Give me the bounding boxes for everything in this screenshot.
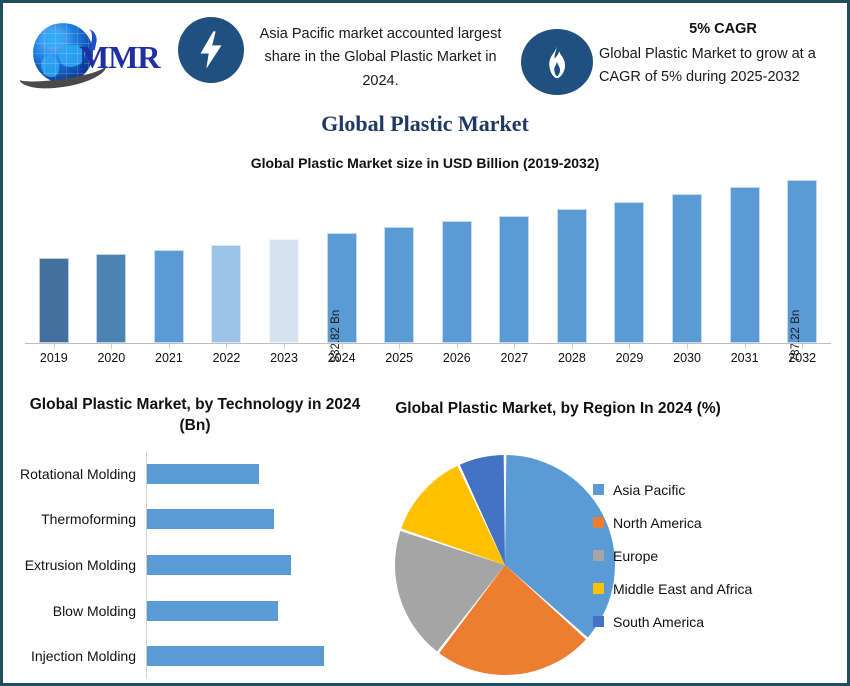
brand-name: MMR bbox=[79, 39, 160, 76]
x-axis-tick-label: 2019 bbox=[40, 351, 68, 365]
technology-bar bbox=[147, 601, 278, 621]
technology-plot-area: Rotational MoldingThermoformingExtrusion… bbox=[9, 451, 379, 679]
bar-2027 bbox=[499, 216, 529, 343]
legend-item: North America bbox=[593, 506, 843, 539]
technology-label: Extrusion Molding bbox=[9, 557, 142, 573]
bar-chart-x-axis bbox=[25, 343, 831, 344]
technology-row: Blow Molding bbox=[9, 588, 379, 634]
legend-swatch bbox=[593, 616, 604, 627]
bar-2020 bbox=[96, 254, 126, 343]
bar-2031 bbox=[730, 187, 760, 343]
header-highlight-text: Asia Pacific market accounted largest sh… bbox=[253, 23, 508, 93]
pie-legend: Asia PacificNorth AmericaEuropeMiddle Ea… bbox=[593, 473, 843, 638]
bar-2030 bbox=[672, 194, 702, 343]
technology-bar bbox=[147, 646, 324, 666]
x-axis-tick-label: 2026 bbox=[443, 351, 471, 365]
bar-column: 2027 bbox=[486, 171, 544, 343]
region-pie-chart: Global Plastic Market, by Region In 2024… bbox=[393, 399, 845, 685]
x-axis-tick-label: 2024 bbox=[328, 351, 356, 365]
technology-bar-chart: Global Plastic Market, by Technology in … bbox=[9, 395, 379, 683]
x-axis-tick-label: 2027 bbox=[500, 351, 528, 365]
infographic-page: MMR Asia Pacific market accounted larges… bbox=[0, 0, 850, 686]
x-axis-tick-label: 2025 bbox=[385, 351, 413, 365]
x-axis-tick-label: 2022 bbox=[213, 351, 241, 365]
legend-label: Asia Pacific bbox=[613, 482, 685, 498]
bar-column: 2028 bbox=[543, 171, 601, 343]
bar-column: 532.82 Bn2024 bbox=[313, 171, 371, 343]
technology-bar bbox=[147, 555, 291, 575]
x-axis-tick-label: 2028 bbox=[558, 351, 586, 365]
technology-bar bbox=[147, 509, 274, 529]
x-axis-tick-label: 2023 bbox=[270, 351, 298, 365]
legend-swatch bbox=[593, 583, 604, 594]
legend-item: Europe bbox=[593, 539, 843, 572]
legend-label: Middle East and Africa bbox=[613, 581, 752, 597]
bar-column: 2031 bbox=[716, 171, 774, 343]
market-size-chart-title: Global Plastic Market size in USD Billio… bbox=[3, 155, 847, 171]
bar-column: 2029 bbox=[601, 171, 659, 343]
legend-label: North America bbox=[613, 515, 702, 531]
region-chart-title: Global Plastic Market, by Region In 2024… bbox=[393, 399, 723, 420]
bar-2021 bbox=[154, 250, 184, 343]
bar-column: 2020 bbox=[83, 171, 141, 343]
technology-row: Injection Molding bbox=[9, 633, 379, 679]
bar-plot-area: 20192020202120222023532.82 Bn20242025202… bbox=[25, 171, 831, 343]
bar-2025 bbox=[384, 227, 414, 343]
technology-bar bbox=[147, 464, 259, 484]
page-title: Global Plastic Market bbox=[3, 111, 847, 137]
technology-label: Thermoforming bbox=[9, 511, 142, 527]
legend-label: Europe bbox=[613, 548, 658, 564]
legend-item: Asia Pacific bbox=[593, 473, 843, 506]
legend-item: South America bbox=[593, 605, 843, 638]
bar-column: 2030 bbox=[658, 171, 716, 343]
bar-2024: 532.82 Bn bbox=[327, 233, 357, 343]
bar-2022 bbox=[211, 245, 241, 343]
mmr-logo: MMR bbox=[17, 17, 169, 93]
bar-2028 bbox=[557, 209, 587, 343]
cagr-badge-label: 5% CAGR bbox=[599, 21, 847, 37]
technology-chart-title: Global Plastic Market, by Technology in … bbox=[19, 395, 371, 437]
bar-column: 2021 bbox=[140, 171, 198, 343]
technology-row: Rotational Molding bbox=[9, 451, 379, 497]
bar-column: 2019 bbox=[25, 171, 83, 343]
bar-column: 2025 bbox=[370, 171, 428, 343]
x-axis-tick-label: 2021 bbox=[155, 351, 183, 365]
bar-column: 2026 bbox=[428, 171, 486, 343]
bar-2032: 787.22 Bn bbox=[787, 180, 817, 343]
x-axis-tick-label: 2020 bbox=[97, 351, 125, 365]
legend-label: South America bbox=[613, 614, 704, 630]
market-size-bar-chart: 20192020202120222023532.82 Bn20242025202… bbox=[25, 171, 831, 367]
flame-icon bbox=[521, 29, 593, 95]
technology-label: Injection Molding bbox=[9, 648, 142, 664]
header: MMR Asia Pacific market accounted larges… bbox=[3, 3, 847, 111]
bar-2023 bbox=[269, 239, 299, 343]
bar-column: 2022 bbox=[198, 171, 256, 343]
x-axis-tick-label: 2030 bbox=[673, 351, 701, 365]
bar-column: 787.22 Bn2032 bbox=[773, 171, 831, 343]
technology-label: Rotational Molding bbox=[9, 466, 142, 482]
technology-row: Extrusion Molding bbox=[9, 542, 379, 588]
cagr-description: Global Plastic Market to grow at a CAGR … bbox=[599, 43, 847, 90]
x-axis-tick-label: 2032 bbox=[788, 351, 816, 365]
x-axis-tick-label: 2029 bbox=[616, 351, 644, 365]
technology-label: Blow Molding bbox=[9, 603, 142, 619]
legend-swatch bbox=[593, 484, 604, 495]
bar-2026 bbox=[442, 221, 472, 343]
bar-2019 bbox=[39, 258, 69, 343]
legend-swatch bbox=[593, 550, 604, 561]
technology-row: Thermoforming bbox=[9, 497, 379, 543]
bar-2029 bbox=[614, 202, 644, 343]
legend-item: Middle East and Africa bbox=[593, 572, 843, 605]
bar-column: 2023 bbox=[255, 171, 313, 343]
pie-svg bbox=[387, 451, 627, 681]
legend-swatch bbox=[593, 517, 604, 528]
x-axis-tick-label: 2031 bbox=[731, 351, 759, 365]
lightning-bolt-icon bbox=[178, 17, 244, 83]
